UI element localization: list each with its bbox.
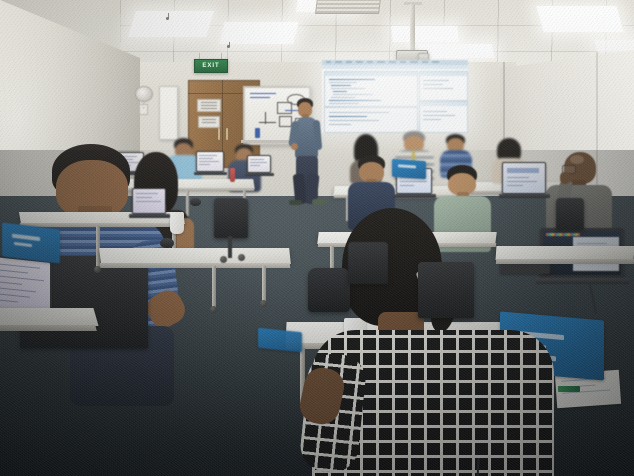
wall-fan: [135, 86, 153, 102]
ide-menu-item: [400, 61, 406, 63]
ide-menu-item: [335, 61, 342, 63]
projector-drop-pole: [410, 4, 415, 52]
ide-menu-item: [356, 61, 363, 63]
ide-menu-item: [326, 61, 331, 63]
classroom-photo: EXIT: [0, 0, 634, 476]
ide-menu-item: [346, 61, 352, 63]
ide-environment-tabs: [420, 72, 467, 76]
ide-menu-item: [422, 61, 428, 63]
ide-editor-tabs: [325, 72, 417, 76]
ide-menu-item: [389, 61, 396, 63]
ide-menu-item: [377, 61, 385, 63]
whiteboard-heading-1: [250, 93, 276, 94]
door-sign-bottom: [198, 116, 220, 128]
ide-menu-item: [367, 61, 373, 63]
ide-menu-item: [410, 61, 418, 63]
whiteboard-diagram-label: [285, 110, 299, 111]
whiteboard-magnet: [255, 128, 260, 138]
exit-sign-label: EXIT: [202, 63, 219, 69]
ide-files-pane: [419, 101, 468, 133]
door-sign-top: [197, 99, 221, 112]
ide-files-tabs: [420, 102, 467, 106]
whiteboard-diagram-line-a: [259, 122, 276, 123]
exit-sign: EXIT: [194, 59, 228, 73]
ide-toolbar: [322, 65, 468, 69]
whiteboard-diagram-line-b: [265, 112, 266, 124]
ide-editor-pane: [324, 71, 418, 107]
ide-environment-pane: [419, 71, 468, 101]
ide-console-pane: [324, 107, 418, 133]
whiteboard-heading-2: [250, 97, 270, 98]
photo-vignette: [0, 150, 634, 476]
projection-screen: [322, 60, 468, 133]
wall-switch-plate[interactable]: [139, 104, 148, 115]
ide-menu-item: [432, 61, 439, 63]
door-handle-right[interactable]: [226, 128, 228, 140]
notice-board: [159, 86, 178, 140]
instructor-left-hand: [291, 143, 298, 150]
door-handle-left[interactable]: [218, 128, 220, 140]
